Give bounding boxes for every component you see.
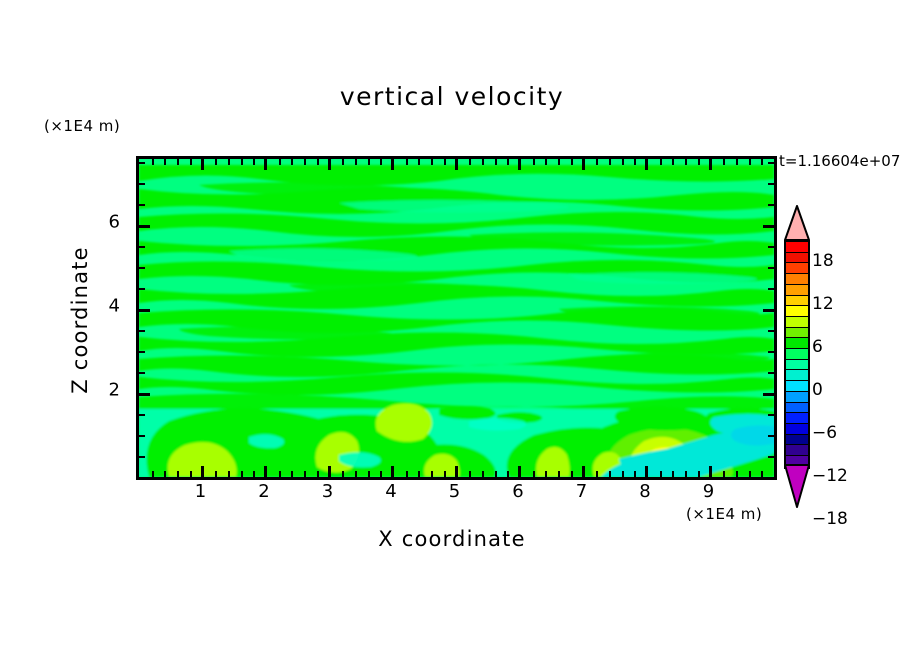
colorbar-tick-label: 18	[812, 251, 834, 271]
colorbar-band	[786, 263, 808, 274]
y-tick-minor	[139, 330, 145, 332]
colorbar-band	[786, 445, 808, 456]
x-tick-minor	[723, 471, 725, 477]
x-tick-minor	[533, 471, 535, 477]
x-tick-minor-top	[304, 159, 306, 165]
x-tick-minor-top	[723, 159, 725, 165]
y-tick-minor-right	[768, 288, 774, 290]
x-tick-major-top	[328, 159, 331, 170]
x-tick-minor-top	[609, 159, 611, 165]
y-tick-minor	[139, 288, 145, 290]
x-tick-minor	[380, 471, 382, 477]
x-tick-minor-top	[660, 159, 662, 165]
x-tick-minor-top	[406, 159, 408, 165]
x-tick-minor-top	[291, 159, 293, 165]
x-tick-minor	[482, 471, 484, 477]
colorbar-band	[786, 328, 808, 339]
x-tick-minor	[241, 471, 243, 477]
y-tick-minor-right	[768, 246, 774, 248]
x-tick-label: 5	[449, 481, 460, 502]
x-tick-minor-top	[253, 159, 255, 165]
y-tick-minor-right	[768, 183, 774, 185]
y-axis-unit-label: (×1E4 m)	[44, 117, 120, 135]
x-tick-major	[645, 466, 648, 477]
x-tick-minor	[215, 471, 217, 477]
y-tick-minor	[139, 162, 145, 164]
x-tick-label: 8	[639, 481, 650, 502]
y-tick-minor	[139, 267, 145, 269]
y-tick-major	[139, 309, 150, 312]
y-tick-minor	[139, 204, 145, 206]
x-tick-minor	[228, 471, 230, 477]
x-tick-minor-top	[164, 159, 166, 165]
x-tick-minor-top	[355, 159, 357, 165]
x-tick-minor	[469, 471, 471, 477]
y-tick-major-right	[763, 225, 774, 228]
colorbar-over-arrow	[784, 205, 810, 241]
y-tick-major-right	[763, 393, 774, 396]
x-tick-label: 4	[385, 481, 396, 502]
x-tick-minor	[571, 471, 573, 477]
x-tick-minor	[279, 471, 281, 477]
colorbar-band	[786, 274, 808, 285]
x-tick-minor	[660, 471, 662, 477]
x-tick-minor-top	[672, 159, 674, 165]
y-tick-minor-right	[768, 204, 774, 206]
colorbar-band	[786, 435, 808, 446]
y-tick-minor-right	[768, 456, 774, 458]
y-tick-minor	[139, 456, 145, 458]
x-tick-minor	[761, 471, 763, 477]
x-tick-minor-top	[317, 159, 319, 165]
x-tick-minor-top	[418, 159, 420, 165]
x-tick-minor	[342, 471, 344, 477]
x-tick-minor	[672, 471, 674, 477]
y-tick-minor	[139, 372, 145, 374]
x-tick-minor-top	[685, 159, 687, 165]
y-tick-minor-right	[768, 414, 774, 416]
x-tick-label: 3	[322, 481, 333, 502]
y-tick-major	[139, 225, 150, 228]
x-tick-major	[391, 466, 394, 477]
x-tick-minor	[622, 471, 624, 477]
y-tick-minor	[139, 246, 145, 248]
y-tick-label: 2	[109, 380, 120, 401]
x-tick-major-top	[264, 159, 267, 170]
colorbar-band	[786, 285, 808, 296]
x-tick-major	[201, 466, 204, 477]
x-tick-minor	[685, 471, 687, 477]
colorbar-tick-label: 6	[812, 337, 823, 357]
x-tick-major	[518, 466, 521, 477]
colorbar-band	[786, 253, 808, 264]
colorbar-tick-label: −6	[812, 423, 837, 443]
x-tick-minor	[418, 471, 420, 477]
x-tick-label: 9	[703, 481, 714, 502]
x-axis-unit-label: (×1E4 m)	[686, 505, 762, 523]
x-tick-minor	[368, 471, 370, 477]
contour-plot-area	[136, 156, 777, 480]
page-title: vertical velocity	[0, 82, 904, 111]
colorbar-band	[786, 360, 808, 371]
y-tick-minor-right	[768, 330, 774, 332]
colorbar-tick-label: 0	[812, 380, 823, 400]
x-tick-minor-top	[736, 159, 738, 165]
x-tick-label: 1	[195, 481, 206, 502]
y-tick-minor	[139, 351, 145, 353]
y-tick-label: 4	[109, 296, 120, 317]
x-tick-minor	[444, 471, 446, 477]
y-tick-minor-right	[768, 351, 774, 353]
colorbar-band	[786, 392, 808, 403]
x-tick-minor-top	[596, 159, 598, 165]
x-tick-minor	[304, 471, 306, 477]
x-tick-minor-top	[482, 159, 484, 165]
x-tick-minor-top	[342, 159, 344, 165]
x-tick-major	[582, 466, 585, 477]
x-tick-minor-top	[571, 159, 573, 165]
colorbar[interactable]	[784, 240, 810, 469]
x-tick-major-top	[455, 159, 458, 170]
x-tick-minor	[355, 471, 357, 477]
x-tick-minor-top	[177, 159, 179, 165]
colorbar-band	[786, 242, 808, 253]
x-tick-minor-top	[469, 159, 471, 165]
x-tick-minor-top	[444, 159, 446, 165]
x-tick-minor-top	[215, 159, 217, 165]
x-tick-minor-top	[152, 159, 154, 165]
y-tick-label: 6	[109, 212, 120, 233]
x-tick-minor	[558, 471, 560, 477]
x-tick-minor	[749, 471, 751, 477]
x-tick-minor-top	[622, 159, 624, 165]
timestamp-annotation: t=1.16604e+07	[779, 152, 900, 170]
x-tick-minor-top	[749, 159, 751, 165]
x-tick-minor	[596, 471, 598, 477]
x-tick-minor	[495, 471, 497, 477]
vertical-velocity-field	[139, 159, 774, 477]
x-tick-minor	[406, 471, 408, 477]
x-tick-minor	[152, 471, 154, 477]
x-tick-minor-top	[431, 159, 433, 165]
colorbar-band	[786, 338, 808, 349]
x-tick-label: 6	[512, 481, 523, 502]
x-tick-minor	[291, 471, 293, 477]
x-tick-minor	[431, 471, 433, 477]
x-tick-minor	[736, 471, 738, 477]
x-tick-minor-top	[279, 159, 281, 165]
x-tick-major	[455, 466, 458, 477]
x-tick-major-top	[518, 159, 521, 170]
colorbar-band	[786, 349, 808, 360]
y-tick-major	[139, 393, 150, 396]
x-tick-minor-top	[190, 159, 192, 165]
x-tick-minor-top	[368, 159, 370, 165]
x-tick-minor-top	[380, 159, 382, 165]
x-tick-minor	[507, 471, 509, 477]
y-tick-minor	[139, 414, 145, 416]
x-tick-minor-top	[228, 159, 230, 165]
y-tick-minor-right	[768, 267, 774, 269]
x-tick-minor-top	[698, 159, 700, 165]
colorbar-tick-label: −12	[812, 466, 848, 486]
x-tick-minor-top	[533, 159, 535, 165]
x-tick-minor-top	[495, 159, 497, 165]
x-tick-major	[709, 466, 712, 477]
y-tick-minor-right	[768, 162, 774, 164]
y-axis-title: Z coordinate	[68, 210, 92, 430]
x-tick-minor	[698, 471, 700, 477]
x-tick-minor	[317, 471, 319, 477]
colorbar-band	[786, 424, 808, 435]
x-tick-major-top	[201, 159, 204, 170]
x-tick-minor	[177, 471, 179, 477]
x-axis-title: X coordinate	[0, 527, 904, 551]
x-tick-minor-top	[545, 159, 547, 165]
y-tick-major-right	[763, 309, 774, 312]
x-tick-minor	[253, 471, 255, 477]
x-tick-minor	[164, 471, 166, 477]
colorbar-band	[786, 403, 808, 414]
x-tick-major	[264, 466, 267, 477]
y-tick-minor	[139, 435, 145, 437]
colorbar-band	[786, 317, 808, 328]
x-tick-minor	[634, 471, 636, 477]
colorbar-tick-label: −18	[812, 509, 848, 529]
x-tick-major-top	[645, 159, 648, 170]
x-tick-label: 2	[258, 481, 269, 502]
x-tick-major-top	[582, 159, 585, 170]
colorbar-band	[786, 296, 808, 307]
x-tick-minor-top	[761, 159, 763, 165]
x-tick-major	[328, 466, 331, 477]
colorbar-band	[786, 370, 808, 381]
x-tick-major-top	[391, 159, 394, 170]
y-tick-minor	[139, 183, 145, 185]
colorbar-tick-label: 12	[812, 294, 834, 314]
colorbar-band	[786, 306, 808, 317]
x-tick-minor	[545, 471, 547, 477]
y-tick-minor-right	[768, 435, 774, 437]
x-tick-label: 7	[576, 481, 587, 502]
colorbar-band	[786, 381, 808, 392]
y-tick-minor-right	[768, 372, 774, 374]
x-tick-minor-top	[241, 159, 243, 165]
colorbar-band	[786, 413, 808, 424]
x-tick-major-top	[709, 159, 712, 170]
x-tick-minor-top	[507, 159, 509, 165]
x-tick-minor	[609, 471, 611, 477]
x-tick-minor-top	[558, 159, 560, 165]
colorbar-under-arrow	[784, 464, 810, 508]
x-tick-minor-top	[634, 159, 636, 165]
x-tick-minor	[190, 471, 192, 477]
